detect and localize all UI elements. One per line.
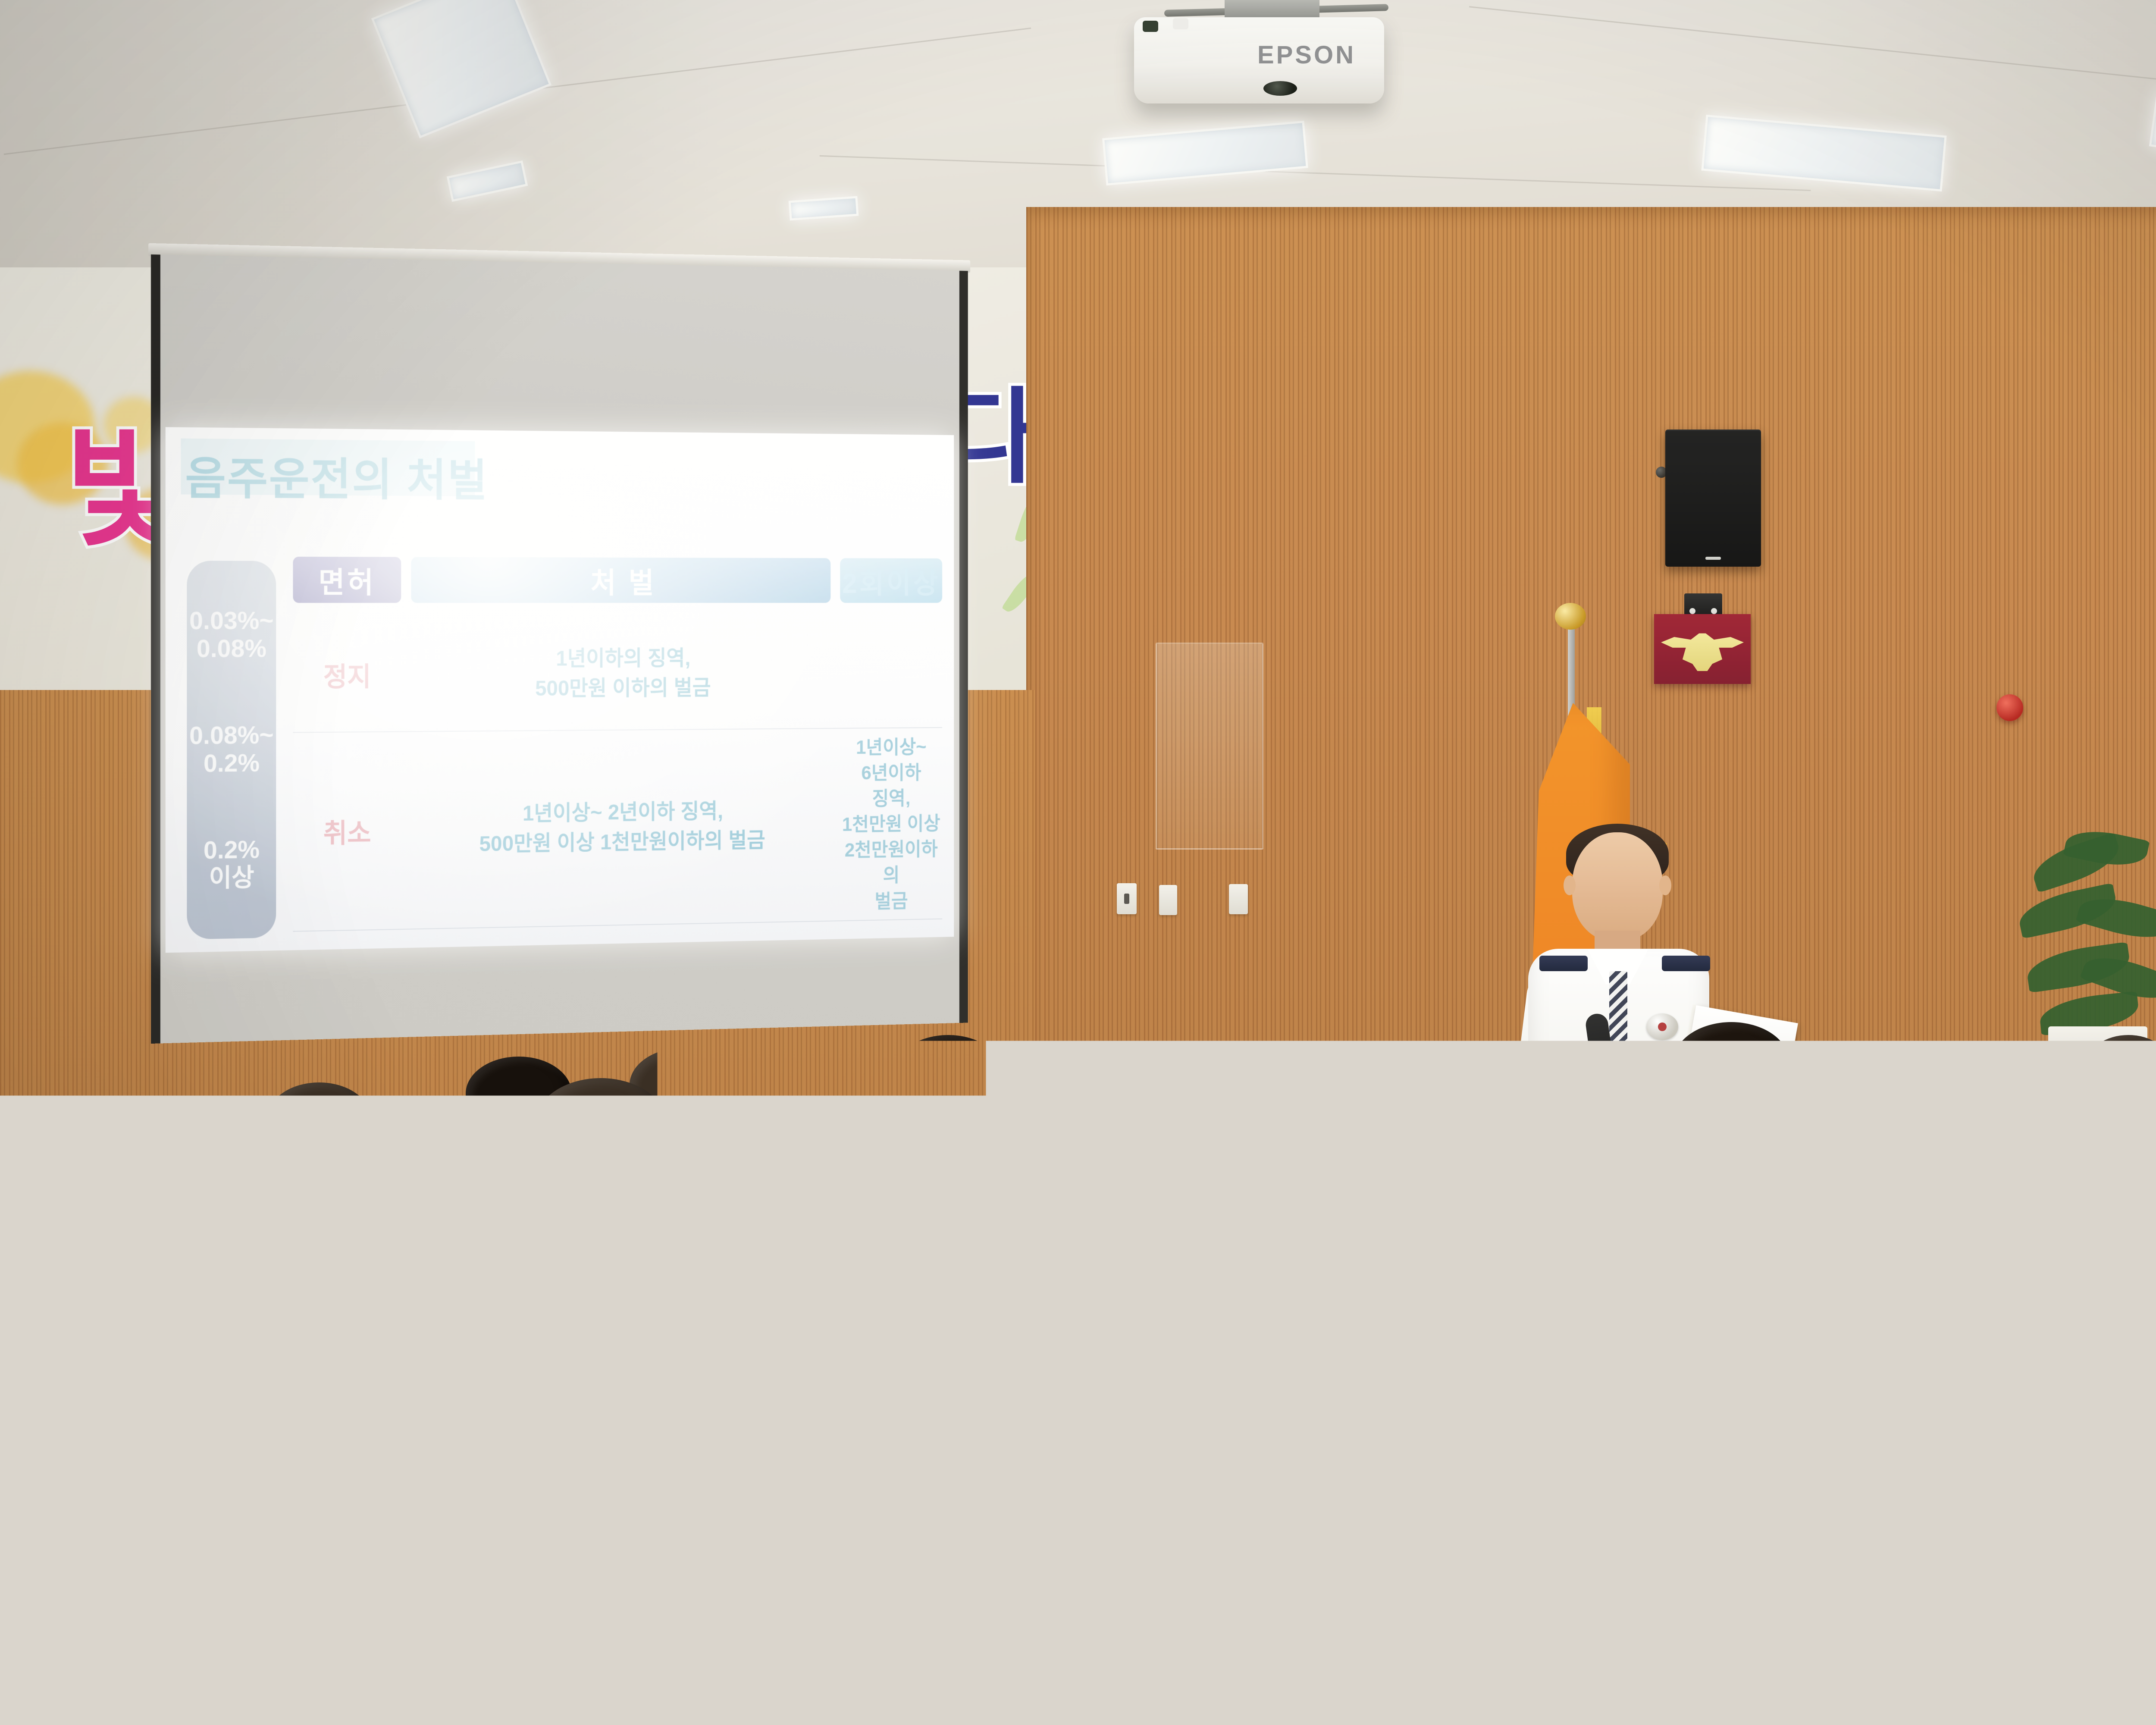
audience-glasses	[1338, 1258, 1374, 1272]
audience-head	[983, 1177, 1136, 1284]
audience-uniform-shirt	[1710, 1420, 1951, 1633]
wall-switch[interactable]	[1117, 883, 1137, 914]
presenter-ear	[1564, 875, 1576, 895]
audience-head	[1846, 1190, 2003, 1301]
audience-member	[1733, 1311, 1927, 1660]
audience-head	[1733, 1311, 1927, 1447]
outlet-slot	[1147, 1140, 1152, 1151]
audience-member	[60, 1345, 241, 1672]
wall-access-hatch	[1156, 643, 1263, 850]
audience-member	[1242, 1190, 1397, 1470]
audience-glasses	[842, 1367, 886, 1385]
audience-head	[1535, 1203, 1690, 1312]
audience-uniform-shirt	[1659, 1087, 1804, 1215]
screen-border-right	[959, 271, 968, 1023]
projector-icon: EPSON	[1134, 17, 1384, 103]
audience-member	[1673, 1022, 1789, 1232]
audience-head	[60, 1345, 241, 1472]
audience-head	[768, 1164, 918, 1270]
audience-uniform-shirt	[702, 1391, 936, 1599]
projector-foot	[1173, 18, 1188, 29]
audience-uniform-shirt	[2062, 1176, 2156, 1325]
slide-light-wash	[166, 427, 954, 953]
audience-member	[552, 1207, 699, 1473]
audience-head	[552, 1207, 699, 1311]
audience-member	[1026, 1363, 1220, 1712]
wall-plate	[1229, 884, 1248, 914]
wall-speaker-icon	[1665, 430, 1761, 567]
projector-foot	[1143, 21, 1158, 32]
auditorium-scene: EPSON 빛 다.	[0, 0, 2156, 1725]
audience-member	[724, 1285, 913, 1625]
projector-lens	[1263, 81, 1297, 96]
audience-head	[1026, 1363, 1220, 1499]
projector-brand-label: EPSON	[1257, 41, 1356, 69]
audience-uniform-shirt	[2029, 1481, 2156, 1698]
audience-head	[2087, 1035, 2156, 1093]
audience-member	[371, 1320, 557, 1655]
presenter-epaulette	[1539, 956, 1588, 971]
audience-member	[2078, 1100, 2156, 1344]
wall-plate	[1159, 885, 1177, 915]
audience-head	[1841, 1044, 1955, 1123]
audience-member	[2053, 1371, 2156, 1725]
audience-head	[1397, 1345, 1591, 1481]
audience-head	[1673, 1022, 1789, 1104]
audience-uniform-shirt	[348, 1424, 580, 1629]
audience-uniform-shirt	[1003, 1471, 1244, 1685]
screen-border-left	[151, 254, 160, 1044]
presenter-head	[1572, 832, 1663, 941]
speaker-port	[1705, 557, 1721, 560]
audience-head	[2078, 1100, 2156, 1195]
switch-rocker	[1124, 894, 1129, 904]
presenter-epaulette	[1662, 956, 1710, 971]
audience-head	[1177, 1087, 1313, 1182]
audience-head	[259, 1190, 406, 1293]
audience-head	[371, 1320, 557, 1450]
projection-screen: 음주운전의 처벌 0.03%~0.08% 0.08%~0.2% 0.2%이상 면…	[151, 254, 968, 1044]
outlet-slot	[1139, 1140, 1144, 1151]
presenter-ear	[1659, 875, 1671, 895]
audience-glasses	[1887, 1176, 1918, 1189]
audience-head	[724, 1285, 913, 1418]
flag-finial	[1555, 603, 1586, 630]
audience-head	[2053, 1371, 2156, 1509]
audience-member	[1397, 1345, 1591, 1695]
audience-head	[302, 1104, 431, 1195]
fire-alarm-icon	[1996, 694, 2023, 721]
audience-uniform-shirt	[39, 1447, 263, 1646]
audience-head	[0, 1199, 142, 1298]
audience-head	[535, 1078, 667, 1170]
audience-uniform-shirt	[1374, 1454, 1614, 1668]
audience-uniform-shirt	[1223, 1277, 1416, 1448]
wall-outlet[interactable]	[1133, 1130, 1157, 1164]
projected-slide: 음주운전의 처벌 0.03%~0.08% 0.08%~0.2% 0.2%이상 면…	[166, 427, 954, 953]
audience-head	[1242, 1190, 1397, 1299]
